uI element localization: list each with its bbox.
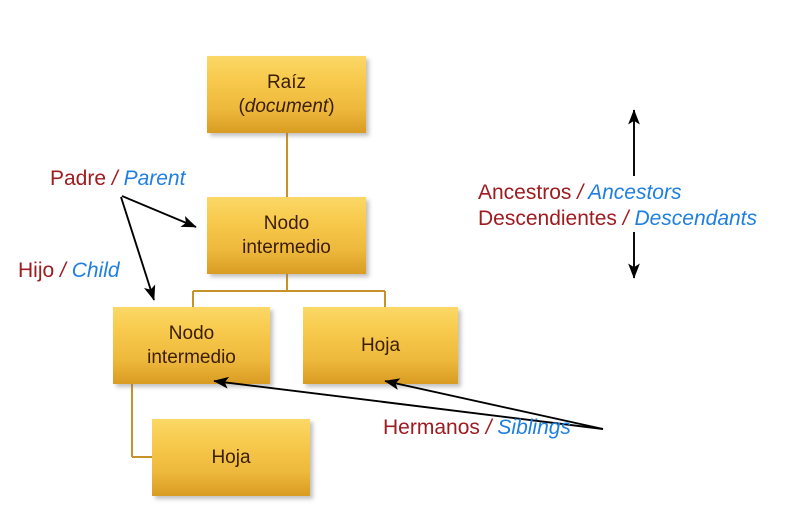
label-ancestors-row: Ancestros / Ancestors bbox=[478, 180, 757, 206]
label-siblings-en: Siblings bbox=[497, 416, 571, 439]
node-intermediate-top-line1: Nodo bbox=[264, 212, 309, 236]
node-intermediate-bottom[interactable]: Nodo intermedio bbox=[113, 307, 270, 384]
node-leaf-bottom-line1: Hoja bbox=[211, 446, 250, 470]
label-parent-sep: / bbox=[106, 167, 124, 190]
label-ancestors-sep: / bbox=[571, 181, 588, 204]
label-descendants-es: Descendientes bbox=[478, 207, 617, 230]
arrow-parent-to-intermediate bbox=[122, 196, 196, 227]
label-siblings: Hermanos / Siblings bbox=[383, 415, 571, 441]
node-leaf-bottom[interactable]: Hoja bbox=[152, 419, 310, 496]
node-leaf-right-line1: Hoja bbox=[361, 334, 400, 358]
node-intermediate-bottom-line1: Nodo bbox=[169, 322, 214, 346]
label-siblings-sep: / bbox=[480, 416, 498, 439]
node-leaf-right[interactable]: Hoja bbox=[303, 307, 458, 384]
label-ancestors-en: Ancestors bbox=[588, 181, 681, 204]
node-intermediate-top-line2: intermedio bbox=[242, 236, 331, 260]
node-root-line2: (document) bbox=[238, 95, 334, 119]
node-intermediate-top[interactable]: Nodo intermedio bbox=[207, 197, 366, 274]
diagram-canvas: Raíz (document) Nodo intermedio Nodo int… bbox=[0, 0, 794, 524]
label-siblings-es: Hermanos bbox=[383, 416, 480, 439]
label-parent: Padre / Parent bbox=[50, 166, 185, 192]
arrow-child-to-intermediate-bottom bbox=[121, 197, 154, 300]
label-child-sep: / bbox=[54, 259, 72, 282]
node-root-tag: document bbox=[245, 96, 328, 117]
label-descendants-sep: / bbox=[617, 207, 635, 230]
label-ancestors-es: Ancestros bbox=[478, 181, 571, 204]
label-parent-en: Parent bbox=[124, 167, 186, 190]
label-ancestors-descendants: Ancestros / Ancestors Descendientes / De… bbox=[478, 180, 757, 232]
label-child-es: Hijo bbox=[18, 259, 54, 282]
node-root-line1: Raíz bbox=[267, 71, 306, 95]
label-descendants-en: Descendants bbox=[634, 207, 757, 230]
label-child-en: Child bbox=[72, 259, 120, 282]
label-parent-es: Padre bbox=[50, 167, 106, 190]
node-intermediate-bottom-line2: intermedio bbox=[147, 346, 236, 370]
node-root[interactable]: Raíz (document) bbox=[207, 56, 366, 133]
label-descendants-row: Descendientes / Descendants bbox=[478, 206, 757, 232]
label-child: Hijo / Child bbox=[18, 258, 120, 284]
